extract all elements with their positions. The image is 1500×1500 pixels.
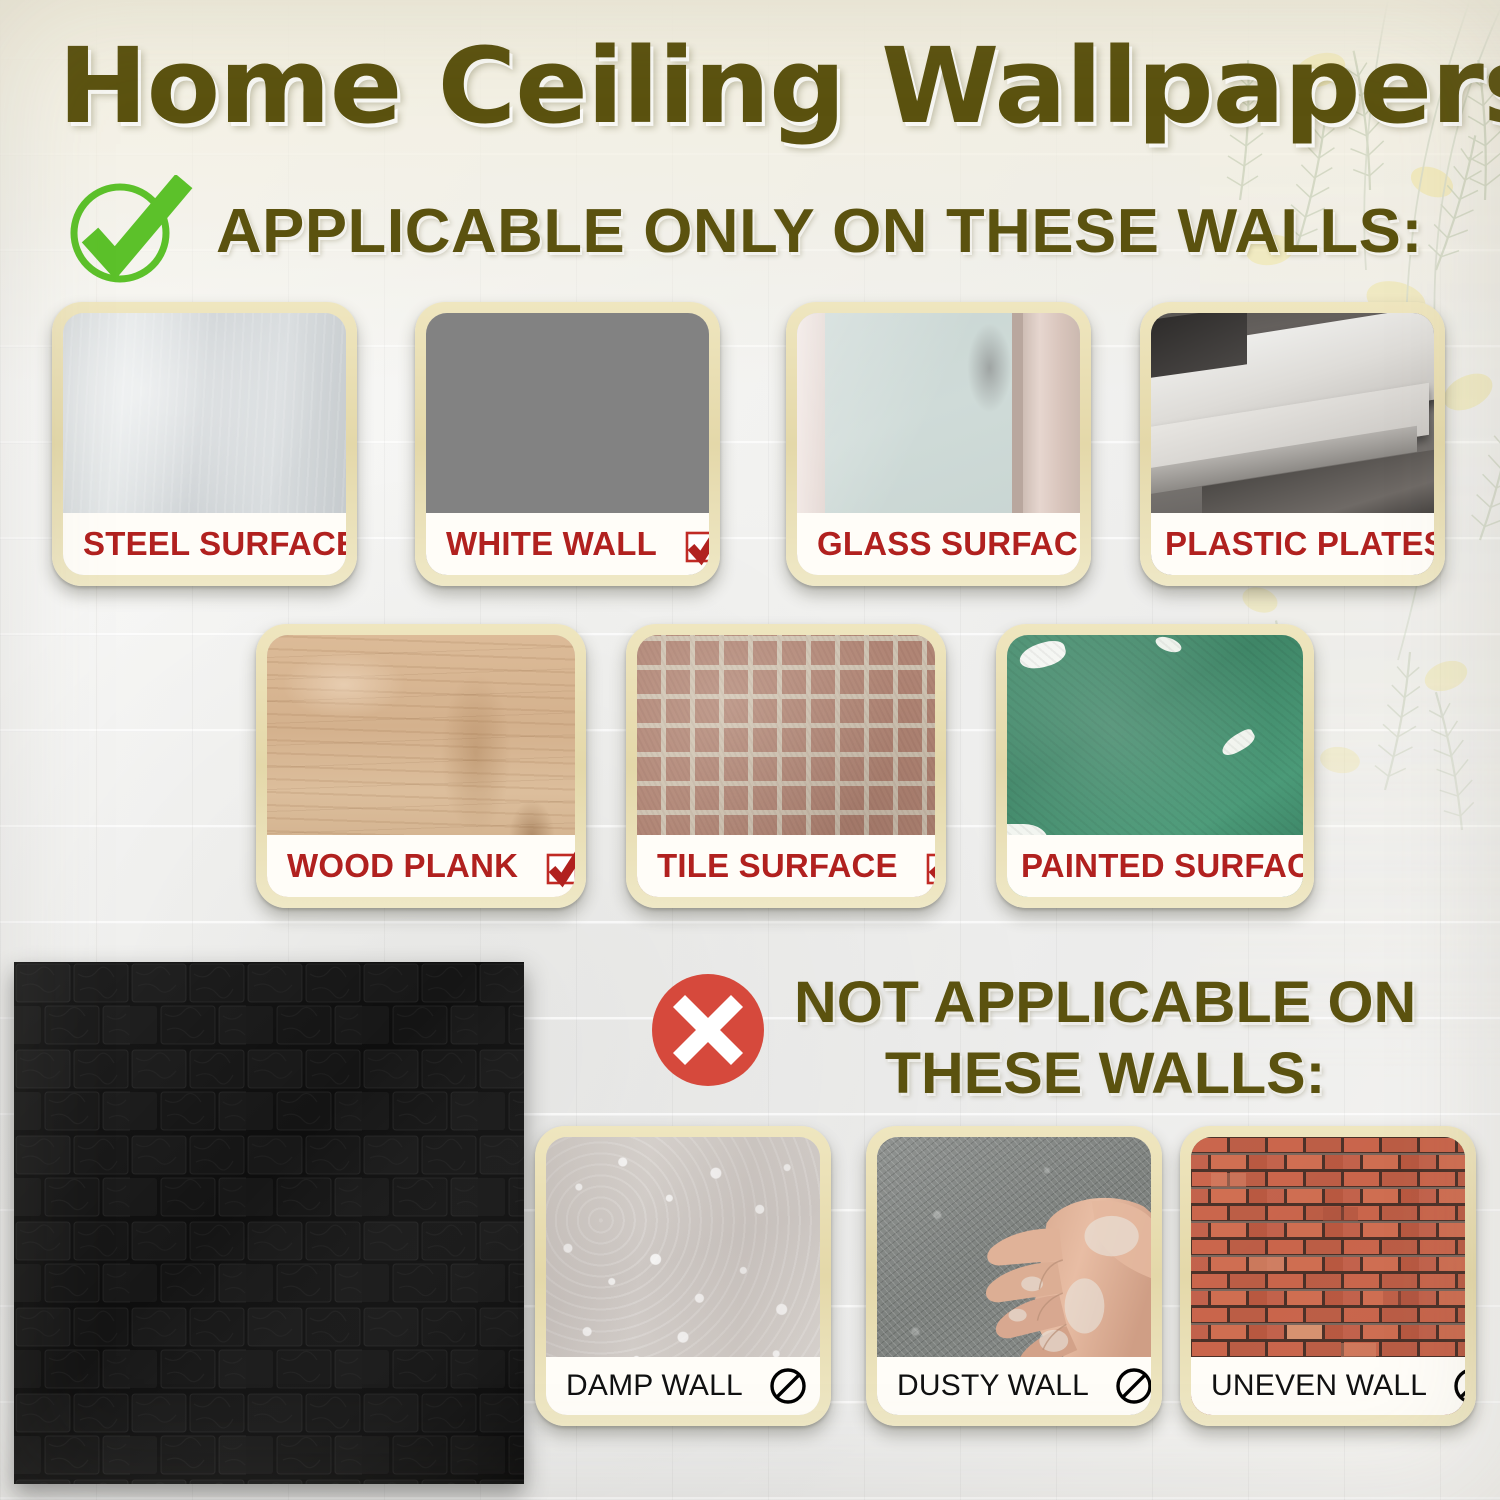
card-label: TILE SURFACE [637, 835, 935, 897]
red-check-box-icon [681, 522, 709, 566]
card-label: PAINTED SURFACE [1007, 835, 1303, 897]
surface-card-dusty-wall[interactable]: DUSTY WALL [866, 1126, 1162, 1426]
card-label-text: PLASTIC PLATES [1165, 525, 1434, 563]
card-label-text: DAMP WALL [566, 1369, 743, 1403]
surface-card-wood-plank[interactable]: WOOD PLANK [256, 624, 586, 908]
red-x-circle-icon [648, 970, 768, 1090]
not-applicable-line-2: THESE WALLS: [794, 1039, 1416, 1110]
applicable-header-label: APPLICABLE ONLY ON THESE WALLS: [216, 196, 1423, 267]
black-3d-brick-foam-panel-photo [14, 962, 524, 1484]
applicable-header: APPLICABLE ONLY ON THESE WALLS: [62, 176, 1482, 286]
no-entry-icon [767, 1365, 809, 1407]
card-label: DAMP WALL [546, 1357, 820, 1415]
surface-card-tile[interactable]: TILE SURFACE [626, 624, 946, 908]
card-label: DUSTY WALL [877, 1357, 1151, 1415]
card-label-text: WHITE WALL [446, 525, 657, 563]
surface-card-uneven-wall[interactable]: UNEVEN WALL [1180, 1126, 1476, 1426]
card-label: PLASTIC PLATES [1151, 513, 1434, 575]
card-label-text: DUSTY WALL [897, 1369, 1089, 1403]
card-label-text: STEEL SURFACE [83, 525, 346, 563]
not-applicable-line-1: NOT APPLICABLE ON [794, 968, 1416, 1039]
card-label: GLASS SURFACE [797, 513, 1080, 575]
surface-card-damp-wall[interactable]: DAMP WALL [535, 1126, 831, 1426]
card-label-text: PAINTED SURFACE [1021, 847, 1303, 885]
surface-card-plastic-plates[interactable]: PLASTIC PLATES [1140, 302, 1445, 586]
card-label: WHITE WALL [426, 513, 709, 575]
surface-card-white-wall[interactable]: WHITE WALL [415, 302, 720, 586]
no-entry-icon [1451, 1365, 1465, 1407]
poster-canvas: Home Ceiling Wallpapers APPLICABLE ONLY … [0, 0, 1500, 1500]
card-label: STEEL SURFACE [63, 513, 346, 575]
card-label: WOOD PLANK [267, 835, 575, 897]
surface-card-glass[interactable]: GLASS SURFACE [786, 302, 1091, 586]
page-title: Home Ceiling Wallpapers [58, 34, 1500, 138]
surface-card-steel[interactable]: STEEL SURFACE [52, 302, 357, 586]
card-label-text: GLASS SURFACE [817, 525, 1080, 563]
red-check-box-icon [542, 844, 575, 888]
card-label-text: WOOD PLANK [287, 847, 518, 885]
no-entry-icon [1113, 1365, 1151, 1407]
red-check-box-icon [922, 844, 935, 888]
green-check-circle-icon [62, 175, 194, 287]
not-applicable-header: NOT APPLICABLE ON THESE WALLS: [648, 968, 1488, 1108]
card-label-text: TILE SURFACE [657, 847, 898, 885]
card-label: UNEVEN WALL [1191, 1357, 1465, 1415]
card-label-text: UNEVEN WALL [1211, 1369, 1427, 1403]
not-applicable-header-label: NOT APPLICABLE ON THESE WALLS: [794, 968, 1416, 1110]
surface-card-painted[interactable]: PAINTED SURFACE [996, 624, 1314, 908]
